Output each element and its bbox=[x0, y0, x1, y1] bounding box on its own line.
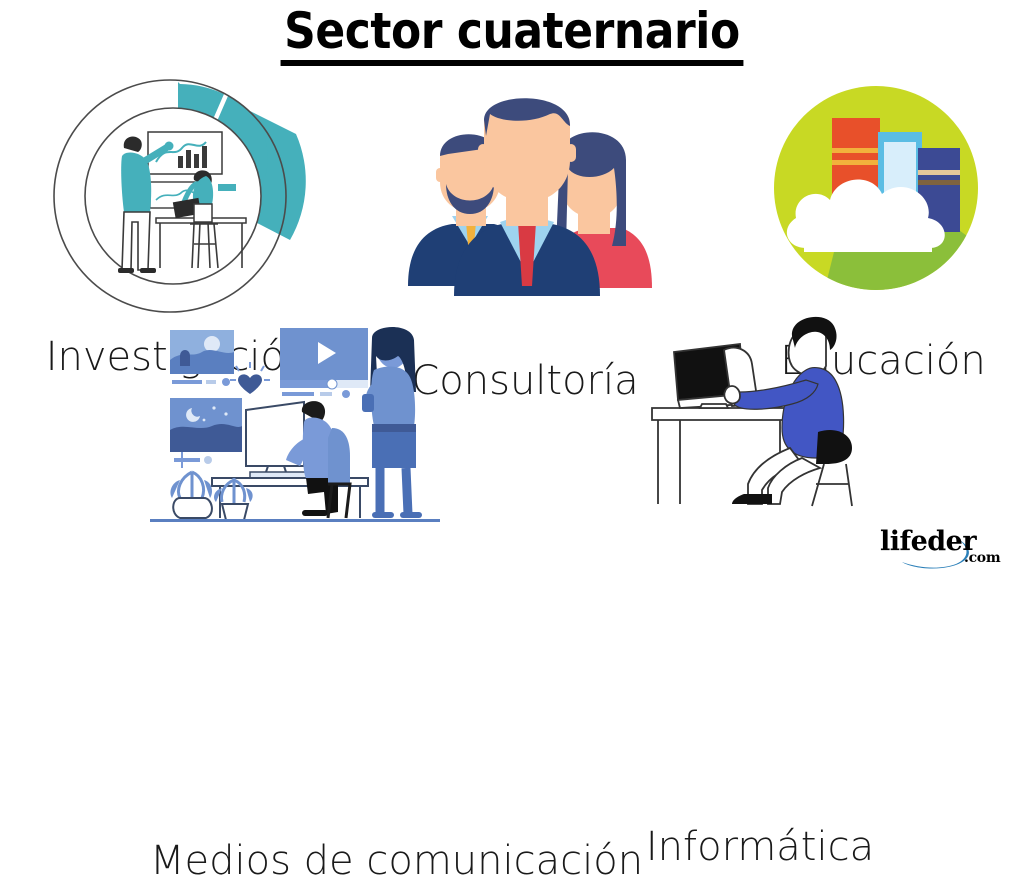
sector-item-informatica: Informática bbox=[640, 308, 880, 513]
person-computer-line-icon bbox=[640, 308, 880, 513]
logo-suffix: .com bbox=[964, 550, 1000, 566]
page-title: Sector cuaternario bbox=[281, 4, 744, 66]
infographic-page: Sector cuaternario bbox=[0, 0, 1024, 576]
sector-item-consultoria: Consultoría bbox=[390, 96, 660, 296]
sector-item-medios: Medios de comunicación bbox=[150, 322, 440, 522]
page-title-wrapper: Sector cuaternario bbox=[0, 4, 1024, 66]
business-people-group-icon bbox=[390, 96, 660, 296]
sector-item-educacion: Educación bbox=[758, 76, 1008, 306]
cloud-books-education-icon bbox=[758, 76, 1008, 306]
sector-label-informatica: Informática bbox=[640, 824, 880, 870]
media-workspace-icon bbox=[150, 322, 440, 522]
sector-label-medios: Medios de comunicación bbox=[150, 838, 440, 884]
lifeder-logo[interactable]: lifeder .com bbox=[878, 524, 1014, 572]
sector-item-investigacion: Investigación bbox=[28, 72, 328, 317]
logo-wordmark: lifeder bbox=[880, 526, 976, 557]
research-pie-chart-icon bbox=[28, 72, 328, 317]
